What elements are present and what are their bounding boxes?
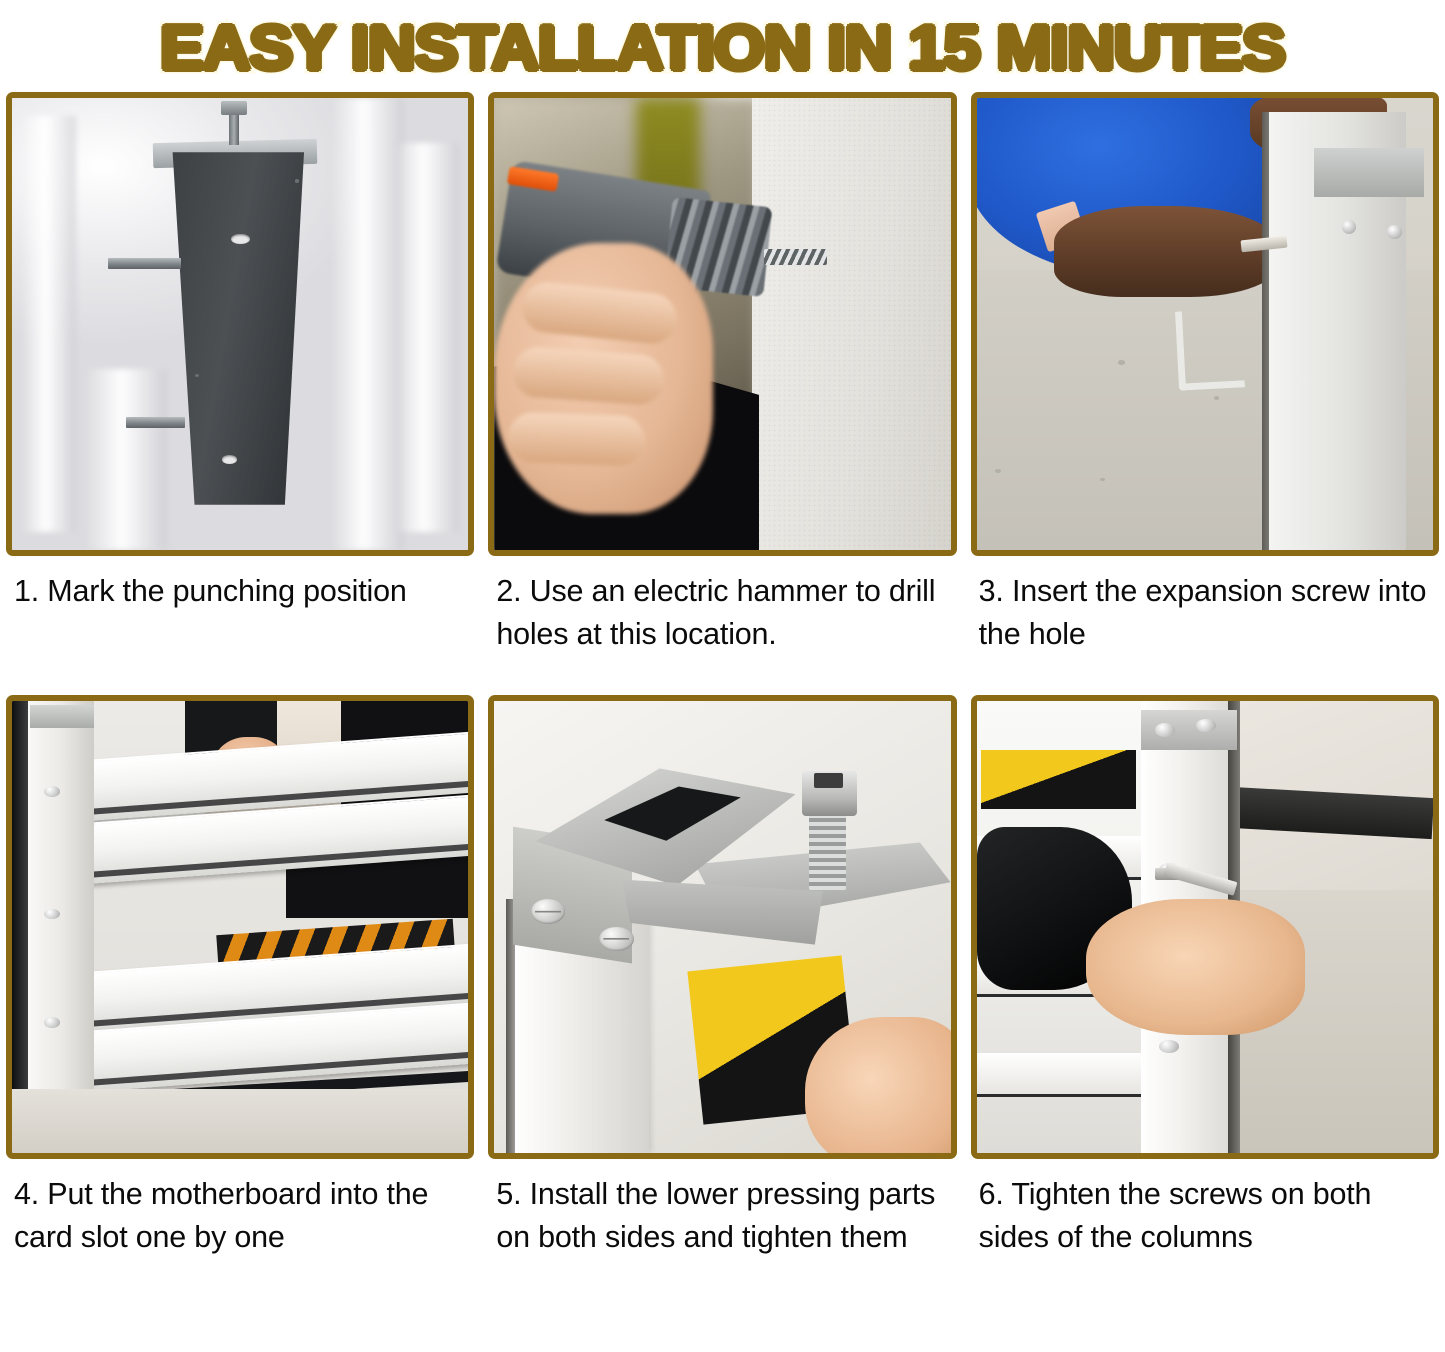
worker-hand (1054, 206, 1282, 296)
bracket-hole-lower (222, 455, 237, 464)
hex-bolt-socket (814, 773, 844, 788)
bracket-screw-left (531, 899, 565, 923)
step-3-caption: 3. Insert the expansion screw into the h… (971, 556, 1439, 657)
photo-tighten-screws (977, 701, 1433, 1153)
page-title: EASY INSTALLATION IN 15 MINUTES (160, 13, 1285, 84)
wall-surface (752, 98, 951, 550)
step-4-photo-frame (6, 695, 474, 1159)
photo-insert-expansion-screw (977, 98, 1433, 550)
step-card-4: 4. Put the motherboard into the card slo… (6, 695, 474, 1260)
column-screw-left (1155, 723, 1175, 737)
step-card-6: 6. Tighten the screws on both sides of t… (971, 695, 1439, 1260)
hazard-stripe (981, 750, 1136, 809)
photo-lower-pressing-parts (494, 701, 950, 1153)
barrier-board-lower (977, 1053, 1160, 1097)
bracket-bolt-lower (126, 417, 185, 428)
step-card-2: 2. Use an electric hammer to drill holes… (488, 92, 956, 657)
grid-row-gap (6, 657, 1439, 695)
column-screw-right (1196, 719, 1216, 733)
step-6-caption: 6. Tighten the screws on both sides of t… (971, 1159, 1439, 1260)
step-6-photo-frame (971, 695, 1439, 1159)
step-2-caption: 2. Use an electric hammer to drill holes… (488, 556, 956, 657)
column-top-plate (1314, 148, 1424, 198)
worker-hand (1086, 899, 1305, 1035)
photo-mark-punching-position (12, 98, 468, 550)
installation-steps-grid: 1. Mark the punching position 2. Use an … (0, 92, 1445, 1259)
bracket-shaft-head (221, 101, 247, 115)
step-5-photo-frame (488, 695, 956, 1159)
drill-bit (764, 249, 828, 264)
column-top-plate (30, 705, 94, 728)
bracket-bolt-upper (108, 258, 181, 269)
header-banner: EASY INSTALLATION IN 15 MINUTES (0, 0, 1445, 92)
step-1-photo-frame (6, 92, 474, 556)
step-card-1: 1. Mark the punching position (6, 92, 474, 657)
step-card-3: 3. Insert the expansion screw into the h… (971, 92, 1439, 657)
step-3-photo-frame (971, 92, 1439, 556)
step-1-caption: 1. Mark the punching position (6, 556, 474, 613)
white-column (21, 701, 94, 1153)
photo-motherboard-card-slot (12, 701, 468, 1153)
bracket-body (167, 152, 304, 505)
column-dark-edge (12, 701, 28, 1153)
step-card-5: 5. Install the lower pressing parts on b… (488, 695, 956, 1260)
allen-key-on-floor (1175, 309, 1245, 392)
photo-drill-holes (494, 98, 950, 550)
step-5-caption: 5. Install the lower pressing parts on b… (488, 1159, 956, 1260)
step-2-photo-frame (488, 92, 956, 556)
bracket-screw-right (599, 927, 633, 951)
hex-bolt-thread (809, 814, 846, 891)
floor (12, 1089, 468, 1152)
step-4-caption: 4. Put the motherboard into the card slo… (6, 1159, 474, 1260)
